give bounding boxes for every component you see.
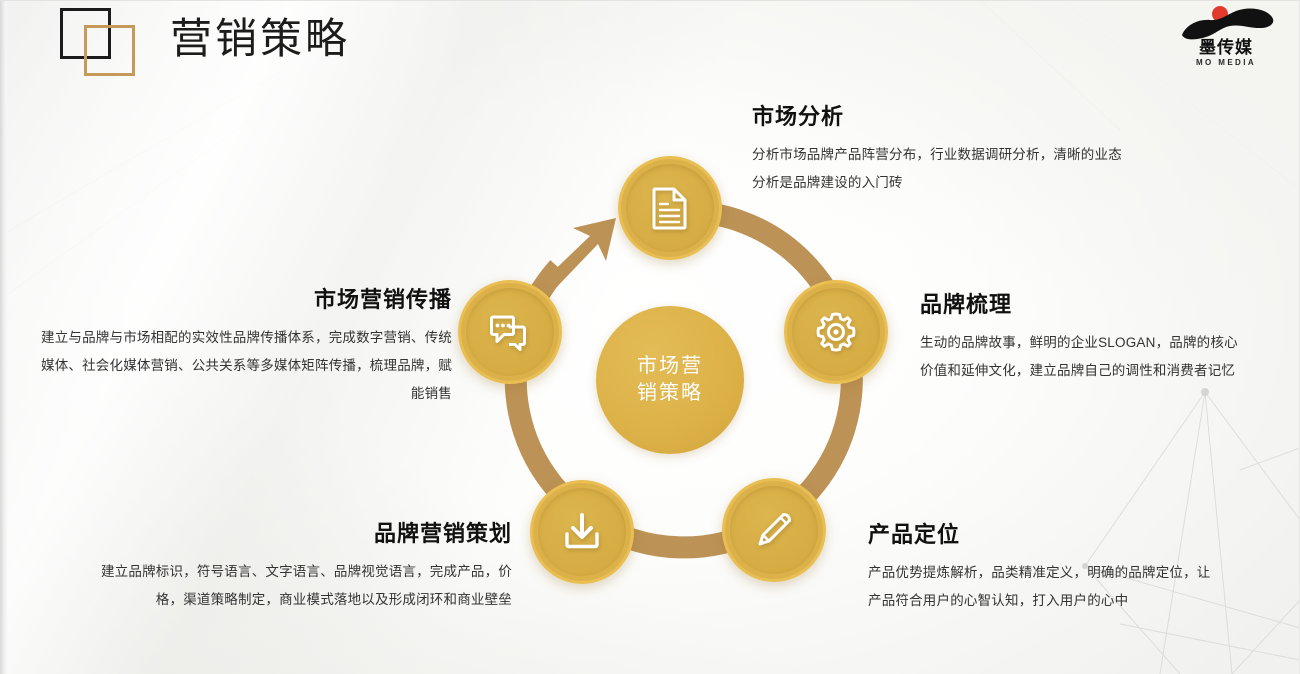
block-title: 市场营销传播 <box>30 288 452 312</box>
slide-header: 营销策略 <box>60 6 350 76</box>
brush-stroke-logo-icon <box>1172 3 1280 43</box>
node-product-positioning[interactable] <box>722 478 826 582</box>
node-market-analysis[interactable] <box>618 156 722 260</box>
node-brand-planning[interactable] <box>530 480 634 584</box>
text-block-product-positioning: 产品定位 产品优势提炼解析，品类精准定义，明确的品牌定位，让产品符合用户的心智认… <box>868 523 1220 615</box>
chat-bubbles-icon <box>487 311 533 353</box>
block-body: 建立品牌标识，符号语言、文字语言、品牌视觉语言，完成产品，价格，渠道策略制定，商… <box>98 558 512 613</box>
text-block-brand-planning: 品牌营销策划 建立品牌标识，符号语言、文字语言、品牌视觉语言，完成产品，价格，渠… <box>98 522 512 614</box>
slide-canvas: 营销策略 墨传媒 MO MEDIA 市场营 销策略 <box>0 0 1300 674</box>
top-hairline <box>0 0 1300 1</box>
brand-name-en: MO MEDIA <box>1172 59 1280 67</box>
brand-name-cn: 墨传媒 <box>1172 39 1280 56</box>
gear-icon <box>814 310 858 354</box>
title-logo-mark <box>60 6 144 76</box>
block-body: 产品优势提炼解析，品类精准定义，明确的品牌定位，让产品符合用户的心智认知，打入用… <box>868 559 1220 614</box>
text-block-market-analysis: 市场分析 分析市场品牌产品阵营分布，行业数据调研分析，清晰的业态分析是品牌建设的… <box>752 105 1124 197</box>
square-outline-gold-icon <box>84 25 135 76</box>
document-icon <box>650 186 690 230</box>
page-title: 营销策略 <box>170 18 350 64</box>
download-icon <box>560 511 604 553</box>
node-marketing-communication[interactable] <box>458 280 562 384</box>
brand-logo: 墨传媒 MO MEDIA <box>1172 3 1280 75</box>
node-brand-combing[interactable] <box>784 280 888 384</box>
left-edge-rail <box>0 0 7 674</box>
text-block-brand-combing: 品牌梳理 生动的品牌故事，鲜明的企业SLOGAN，品牌的核心价值和延伸文化，建立… <box>920 293 1250 385</box>
block-title: 品牌营销策划 <box>98 522 512 546</box>
block-body: 建立与品牌与市场相配的实效性品牌传播体系，完成数字营销、传统媒体、社会化媒体营销… <box>30 324 452 407</box>
block-body: 生动的品牌故事，鲜明的企业SLOGAN，品牌的核心价值和延伸文化，建立品牌自己的… <box>920 329 1250 384</box>
block-title: 市场分析 <box>752 105 1124 129</box>
block-body: 分析市场品牌产品阵营分布，行业数据调研分析，清晰的业态分析是品牌建设的入门砖 <box>752 141 1124 196</box>
center-label: 市场营 销策略 <box>637 353 703 407</box>
block-title: 品牌梳理 <box>920 293 1250 317</box>
block-title: 产品定位 <box>868 523 1220 547</box>
center-disc: 市场营 销策略 <box>596 306 744 454</box>
text-block-marketing-communication: 市场营销传播 建立与品牌与市场相配的实效性品牌传播体系，完成数字营销、传统媒体、… <box>30 288 452 407</box>
pencil-icon <box>752 508 796 552</box>
